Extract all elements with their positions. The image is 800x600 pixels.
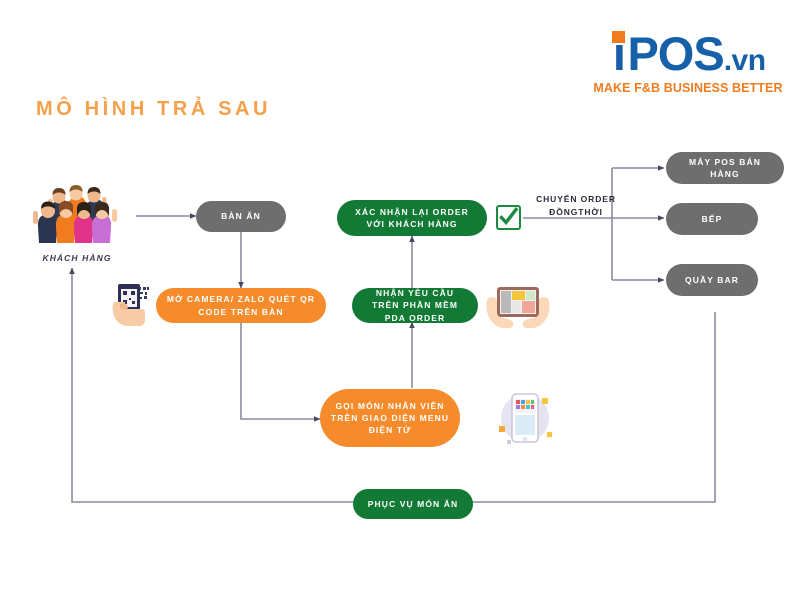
node-phuc-vu-mon-an[interactable]: PHỤC VỤ MÓN ĂN [353,489,473,519]
node-xac-nhan-lai-order[interactable]: XÁC NHẬN LẠI ORDER VỚI KHÁCH HÀNG [337,200,487,236]
people-group-icon [28,183,126,245]
checkbox-checked-icon[interactable] [496,205,521,230]
node-nhan-yeu-cau-pda[interactable]: NHẬN YÊU CẦU TRÊN PHẦN MỀM PDA ORDER [352,288,478,323]
hand-phone-qr-scan-icon [108,282,160,335]
node-label: MỞ CAMERA/ ZALO QUÉT QR CODE TRÊN BÀN [166,293,316,318]
node-quay-bar[interactable]: QUẦY BAR [666,264,758,296]
customer-caption: KHÁCH HÀNG [28,253,126,263]
node-label: BẾP [702,213,723,225]
node-goi-mon-menu-dien-tu[interactable]: GỌI MÓN/ NHÂN VIÊN TRÊN GIAO DIỆN MENU Đ… [320,389,460,447]
node-label: BÀN ĂN [221,210,261,222]
check-mark-icon [498,207,519,228]
edge-mo-camera-to-goi-mon [241,322,320,419]
checkbox-label: CHUYỂN ORDER ĐỒNGTHỜI [528,193,624,219]
node-may-pos-ban-hang[interactable]: MÁY POS BÁN HÀNG [666,152,784,184]
node-ban-an[interactable]: BÀN ĂN [196,201,286,232]
hands-tablet-pda-icon [485,285,551,336]
customer-group: KHÁCH HÀNG [28,183,126,263]
node-bep[interactable]: BẾP [666,203,758,235]
node-label: QUẦY BAR [685,274,739,286]
node-label: GỌI MÓN/ NHÂN VIÊN TRÊN GIAO DIỆN MENU Đ… [330,400,450,437]
node-label: NHẬN YÊU CẦU TRÊN PHẦN MỀM PDA ORDER [362,287,468,324]
node-label: XÁC NHẬN LẠI ORDER VỚI KHÁCH HÀNG [347,206,477,231]
node-mo-camera-zalo-quet-qr[interactable]: MỞ CAMERA/ ZALO QUÉT QR CODE TRÊN BÀN [156,288,326,323]
smartphone-menu-app-icon [490,385,560,460]
node-label: MÁY POS BÁN HÀNG [676,156,774,181]
node-label: PHỤC VỤ MÓN ĂN [368,498,459,510]
flowchart-canvas: i POS .vn MAKE F&B BUSINESS BETTER MÔ HÌ… [0,0,800,600]
